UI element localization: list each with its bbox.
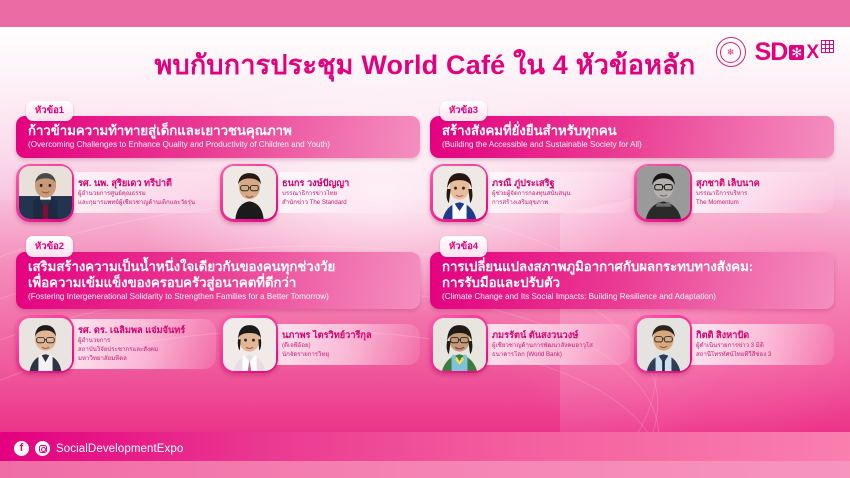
speaker-name: ธนกร วงษ์ปัญญา — [282, 178, 414, 189]
speaker-name: นภาพร ไตรวิทย์วารีกุล — [282, 330, 414, 341]
sdx-star-icon: ✻ — [789, 45, 804, 60]
speaker-info: ธนกร วงษ์ปัญญา บรรณาธิการข่าวไทย สำนักข่… — [264, 172, 420, 213]
social-handle: SocialDevelopmentExpo — [56, 443, 183, 455]
instagram-icon[interactable] — [35, 441, 50, 456]
speaker-list: ภรณี ภู่ประเสริฐ ผู้ช่วยผู้จัดการกองทุนส… — [430, 164, 834, 222]
topic-block-4: หัวข้อ4 การเปลี่ยนแปลงสภาพภูมิอากาศกับผล… — [430, 236, 834, 374]
speaker-name: ภรณี ภู่ประเสริฐ — [492, 178, 624, 189]
speaker-photo — [637, 166, 690, 219]
header: พบกับการประชุม World Café ใน 4 หัวข้อหลั… — [0, 27, 850, 99]
speaker-role-line: ผู้ช่วยผู้จัดการกองทุนสนับสนุน — [492, 190, 624, 198]
speaker-role-line: ธนาคารโลก (World Bank) — [492, 351, 624, 359]
speaker-role-line: สถาบันวิจัยประชากรและสังคม — [78, 346, 210, 354]
speaker-list: รศ. นพ. สุริยเดว ทรีปาตี ผู้อำนวยการศูนย… — [16, 164, 420, 222]
speaker-info: สุภชาติ เล็บนาค บรรณาธิการบริหาร The Mom… — [678, 172, 834, 213]
topic-badge: หัวข้อ3 — [440, 101, 487, 122]
topic-bar: ก้าวข้ามความท้าทายสู่เด็กและเยาวชนคุณภาพ… — [16, 116, 420, 158]
sdx-logo: SD ✻ X — [755, 40, 834, 65]
speaker-role-line: The Momentum — [696, 199, 828, 207]
speaker-role-line: มหาวิทยาลัยมหิดล — [78, 355, 210, 363]
sdx-mark-icon — [821, 40, 834, 53]
royal-seal-icon: ❄ — [716, 37, 746, 67]
speaker-role-line: ผู้อำนวยการ — [78, 337, 210, 345]
topic-title-th: ก้าวข้ามความท้าทายสู่เด็กและเยาวชนคุณภาพ — [28, 123, 408, 139]
topic-badge: หัวข้อ2 — [26, 236, 73, 257]
topics-grid: หัวข้อ1 ก้าวข้ามความท้าทายสู่เด็กและเยาว… — [0, 100, 850, 377]
speaker-name: ภมรรัตน์ ตันสงวนวงษ์ — [492, 330, 624, 341]
avatar — [220, 164, 278, 222]
topic-title-en: (Building the Accessible and Sustainable… — [442, 140, 822, 151]
royal-seal-inner: ❄ — [720, 42, 741, 63]
speaker-card: นภาพร ไตรวิทย์วารีกุล (ดีเจพี่อ้อย) นักจ… — [220, 315, 420, 373]
topic-badge: หัวข้อ4 — [440, 236, 487, 257]
topic-block-2: หัวข้อ2 เสริมสร้างความเป็นน้ำหนึ่งใจเดีย… — [16, 236, 420, 374]
topic-title-en: (Overcoming Challenges to Enhance Qualit… — [28, 140, 408, 151]
speaker-photo — [223, 318, 276, 371]
speaker-name: สุภชาติ เล็บนาค — [696, 178, 828, 189]
topic-bar: การเปลี่ยนแปลงสภาพภูมิอากาศกับผลกระทบทาง… — [430, 252, 834, 310]
speaker-card: สุภชาติ เล็บนาค บรรณาธิการบริหาร The Mom… — [634, 164, 834, 222]
speaker-role-line: และกุมารแพทย์ผู้เชี่ยวชาญด้านเด็กและวัยร… — [78, 199, 210, 207]
speaker-photo — [433, 166, 486, 219]
speaker-name: รศ. ดร. เฉลิมพล แจ่มจันทร์ — [78, 325, 210, 336]
speaker-card: ธนกร วงษ์ปัญญา บรรณาธิการข่าวไทย สำนักข่… — [220, 164, 420, 222]
speaker-info: ภมรรัตน์ ตันสงวนวงษ์ ผู้เชี่ยวชาญด้านการ… — [474, 324, 630, 365]
speaker-role-line: ผู้อำนวยการศูนย์คุณธรรม — [78, 190, 210, 198]
facebook-icon[interactable]: f — [14, 441, 29, 456]
speaker-photo — [433, 318, 486, 371]
speaker-photo — [19, 318, 72, 371]
speaker-role-line: บรรณาธิการข่าวไทย — [282, 190, 414, 198]
speaker-info: ภรณี ภู่ประเสริฐ ผู้ช่วยผู้จัดการกองทุนส… — [474, 172, 630, 213]
topic-title-en: (Climate Change and Its Social Impacts: … — [442, 292, 822, 303]
top-bar — [0, 0, 850, 27]
topic-title-th: สร้างสังคมที่ยั่งยืนสำหรับทุกคน — [442, 123, 822, 139]
avatar — [634, 164, 692, 222]
sdx-logo-x: X — [806, 43, 819, 62]
speaker-info: กิตติ สิงหาปัด ผู้ดำเนินรายการข่าว 3 มิต… — [678, 324, 834, 365]
column-right: หัวข้อ3 สร้างสังคมที่ยั่งยืนสำหรับทุกคน … — [430, 100, 834, 377]
speaker-role-line: ผู้เชี่ยวชาญด้านการพัฒนาสังคมอาวุโส — [492, 342, 624, 350]
avatar — [430, 315, 488, 373]
speaker-role-line: นักจัดรายการวิทยุ — [282, 351, 414, 359]
topic-title-en: (Fostering Intergenerational Solidarity … — [28, 292, 408, 303]
footer-band-lower — [0, 461, 850, 478]
speaker-role-line: (ดีเจพี่อ้อย) — [282, 342, 414, 350]
sdx-logo-text: SD — [755, 40, 788, 65]
speaker-role-line: สถานีโทรทัศน์ไทยทีวีสีช่อง 3 — [696, 351, 828, 359]
speaker-info: นภาพร ไตรวิทย์วารีกุล (ดีเจพี่อ้อย) นักจ… — [264, 324, 420, 365]
speaker-role-line: การสร้างเสริมสุขภาพ — [492, 199, 624, 207]
speaker-card: กิตติ สิงหาปัด ผู้ดำเนินรายการข่าว 3 มิต… — [634, 315, 834, 373]
speaker-info: รศ. นพ. สุริยเดว ทรีปาตี ผู้อำนวยการศูนย… — [60, 172, 216, 213]
avatar — [634, 315, 692, 373]
logo-group: ❄ SD ✻ X — [716, 37, 834, 67]
speaker-role-line: สำนักข่าว The Standard — [282, 199, 414, 207]
speaker-role-line: ผู้ดำเนินรายการข่าว 3 มิติ — [696, 342, 828, 350]
topic-title-th: การเปลี่ยนแปลงสภาพภูมิอากาศกับผลกระทบทาง… — [442, 259, 822, 291]
speaker-info: รศ. ดร. เฉลิมพล แจ่มจันทร์ ผู้อำนวยการ ส… — [60, 319, 216, 369]
topic-block-1: หัวข้อ1 ก้าวข้ามความท้าทายสู่เด็กและเยาว… — [16, 100, 420, 222]
footer: f SocialDevelopmentExpo — [0, 426, 850, 478]
topic-block-3: หัวข้อ3 สร้างสังคมที่ยั่งยืนสำหรับทุกคน … — [430, 100, 834, 222]
speaker-role-line: บรรณาธิการบริหาร — [696, 190, 828, 198]
speaker-photo — [19, 166, 72, 219]
speaker-list: ภมรรัตน์ ตันสงวนวงษ์ ผู้เชี่ยวชาญด้านการ… — [430, 315, 834, 373]
speaker-card: รศ. นพ. สุริยเดว ทรีปาตี ผู้อำนวยการศูนย… — [16, 164, 216, 222]
topic-bar: เสริมสร้างความเป็นน้ำหนึ่งใจเดียวกันของค… — [16, 252, 420, 310]
topic-bar: สร้างสังคมที่ยั่งยืนสำหรับทุกคน (Buildin… — [430, 116, 834, 158]
speaker-card: ภรณี ภู่ประเสริฐ ผู้ช่วยผู้จัดการกองทุนส… — [430, 164, 630, 222]
avatar — [220, 315, 278, 373]
avatar — [16, 315, 74, 373]
speaker-name: รศ. นพ. สุริยเดว ทรีปาตี — [78, 178, 210, 189]
avatar — [430, 164, 488, 222]
avatar — [16, 164, 74, 222]
speaker-photo — [223, 166, 276, 219]
column-left: หัวข้อ1 ก้าวข้ามความท้าทายสู่เด็กและเยาว… — [16, 100, 420, 377]
topic-badge: หัวข้อ1 — [26, 101, 73, 122]
speaker-photo — [637, 318, 690, 371]
social-links: f SocialDevelopmentExpo — [14, 441, 183, 456]
speaker-card: ภมรรัตน์ ตันสงวนวงษ์ ผู้เชี่ยวชาญด้านการ… — [430, 315, 630, 373]
speaker-name: กิตติ สิงหาปัด — [696, 330, 828, 341]
topic-title-th: เสริมสร้างความเป็นน้ำหนึ่งใจเดียวกันของค… — [28, 259, 408, 291]
speaker-card: รศ. ดร. เฉลิมพล แจ่มจันทร์ ผู้อำนวยการ ส… — [16, 315, 216, 373]
speaker-list: รศ. ดร. เฉลิมพล แจ่มจันทร์ ผู้อำนวยการ ส… — [16, 315, 420, 373]
